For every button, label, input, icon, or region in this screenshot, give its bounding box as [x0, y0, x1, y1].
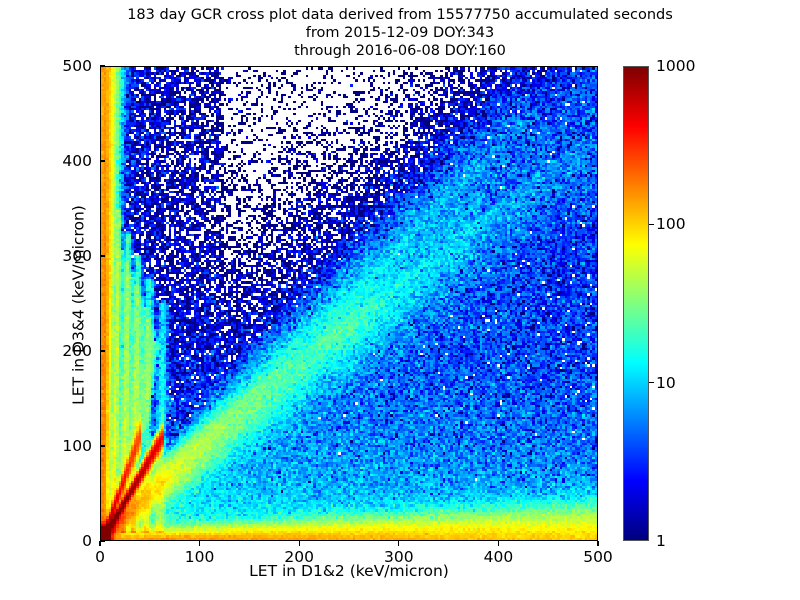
- colorbar: 1000100101: [623, 66, 649, 541]
- title-line-1: 183 day GCR cross plot data derived from…: [0, 6, 800, 24]
- x-tick-mark: [597, 541, 598, 546]
- figure-canvas: 183 day GCR cross plot data derived from…: [0, 0, 800, 600]
- y-axis-label: LET in D3&4 (keV/micron): [70, 68, 88, 543]
- x-tick-mark: [199, 541, 200, 546]
- y-tick-mark: [100, 160, 105, 161]
- x-axis-label: LET in D1&2 (keV/micron): [100, 562, 598, 580]
- colorbar-tick-label: 100: [656, 215, 686, 233]
- plot-title: 183 day GCR cross plot data derived from…: [0, 6, 800, 60]
- density-heatmap: [101, 67, 598, 541]
- plot-axes-frame: [100, 66, 598, 541]
- colorbar-gradient: [623, 66, 649, 541]
- x-tick-mark: [398, 541, 399, 546]
- colorbar-tick-mark: [649, 382, 654, 383]
- colorbar-tick-label: 1: [656, 532, 666, 550]
- colorbar-tick-mark: [649, 224, 654, 225]
- x-tick-mark: [99, 541, 100, 546]
- y-tick-mark: [100, 445, 105, 446]
- y-tick-mark: [100, 350, 105, 351]
- y-tick-mark: [100, 540, 105, 541]
- x-tick-mark: [299, 541, 300, 546]
- title-line-2: from 2015-12-09 DOY:343: [0, 24, 800, 42]
- y-tick-mark: [100, 65, 105, 66]
- y-tick-mark: [100, 255, 105, 256]
- colorbar-tick-label: 10: [656, 374, 676, 392]
- x-tick-mark: [498, 541, 499, 546]
- colorbar-tick-label: 1000: [656, 57, 695, 75]
